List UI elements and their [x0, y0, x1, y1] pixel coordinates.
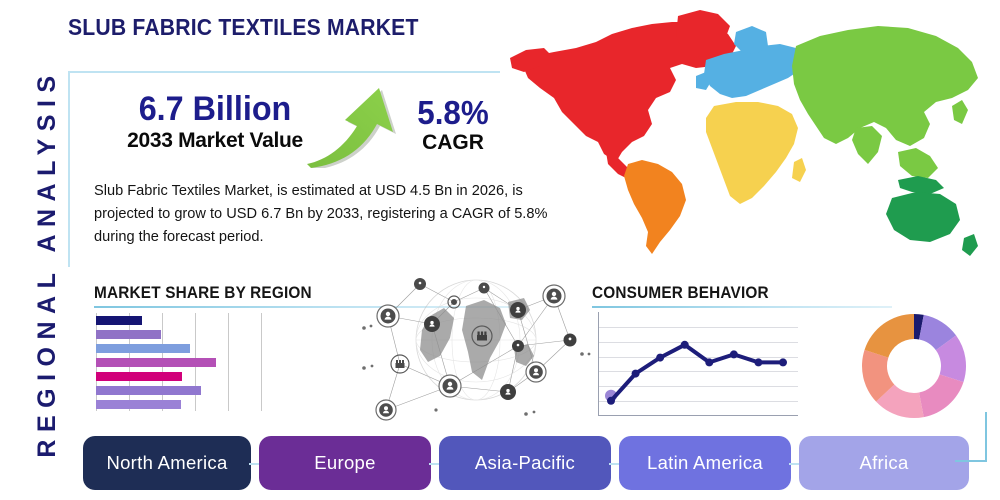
right-rail-horizontal-decoration — [955, 460, 987, 462]
market-share-bar-chart — [96, 313, 292, 411]
map-region-south-america — [624, 160, 686, 254]
market-value-number: 6.7 Billion — [106, 92, 325, 128]
bar-chart-bar — [96, 372, 182, 381]
cagr-stat: 5.8% CAGR — [390, 96, 516, 155]
bar-chart-bar — [96, 358, 216, 367]
region-button-africa[interactable]: Africa — [799, 436, 969, 490]
cagr-number: 5.8% — [393, 96, 513, 131]
market-value-stat: 6.7 Billion 2033 Market Value — [100, 92, 330, 153]
market-value-label: 2033 Market Value — [100, 129, 330, 153]
regional-analysis-side-label: REGIONAL ANALYSIS — [27, 68, 67, 458]
globe-network-graphic — [358, 268, 594, 428]
donut-segment — [919, 374, 963, 417]
donut-segment — [865, 314, 914, 358]
consumer-behavior-heading: CONSUMER BEHAVIOR — [592, 284, 769, 303]
region-button-europe[interactable]: Europe — [259, 436, 431, 490]
map-region-southeast-asia — [898, 148, 938, 178]
line-chart-point — [656, 354, 664, 362]
bar-chart-gridline — [228, 313, 229, 411]
cagr-label: CAGR — [390, 131, 516, 155]
region-button-asia-pacific[interactable]: Asia-Pacific — [439, 436, 611, 490]
map-region-japan — [952, 100, 968, 124]
map-region-asia — [792, 26, 978, 146]
bar-chart-bar — [96, 400, 181, 409]
growth-arrow-icon — [305, 86, 400, 168]
map-region-new-zealand — [962, 234, 978, 256]
bar-chart-bar — [96, 316, 142, 325]
line-chart-point — [681, 341, 689, 349]
map-region-indonesia — [898, 176, 944, 194]
line-chart-point — [754, 358, 762, 366]
right-rail-decoration — [985, 412, 987, 462]
bar-chart-bar — [96, 386, 201, 395]
bar-chart-bar — [96, 344, 190, 353]
region-button-north-america[interactable]: North America — [83, 436, 251, 490]
consumer-behavior-rule — [592, 306, 892, 308]
map-region-africa — [706, 102, 798, 204]
bar-chart-gridline — [261, 313, 262, 411]
regional-donut-chart — [858, 310, 970, 422]
infographic-canvas: REGIONAL ANALYSIS SLUB FABRIC TEXTILES M… — [0, 0, 1000, 500]
consumer-behavior-line-chart — [598, 312, 798, 416]
region-button-bar: North AmericaEuropeAsia-PacificLatin Ame… — [83, 436, 963, 490]
market-share-heading: MARKET SHARE BY REGION — [94, 284, 312, 303]
map-region-india — [852, 126, 882, 164]
bar-chart-bar — [96, 330, 161, 339]
world-map — [500, 2, 1000, 267]
map-region-australia — [886, 192, 960, 242]
line-chart-point — [730, 350, 738, 358]
line-chart-point — [705, 358, 713, 366]
line-chart-point — [632, 370, 640, 378]
map-region-madagascar — [792, 158, 806, 182]
page-title: SLUB FABRIC TEXTILES MARKET — [68, 14, 464, 41]
region-button-latin-america[interactable]: Latin America — [619, 436, 791, 490]
line-chart-point — [607, 397, 615, 405]
line-chart-point — [779, 358, 787, 366]
